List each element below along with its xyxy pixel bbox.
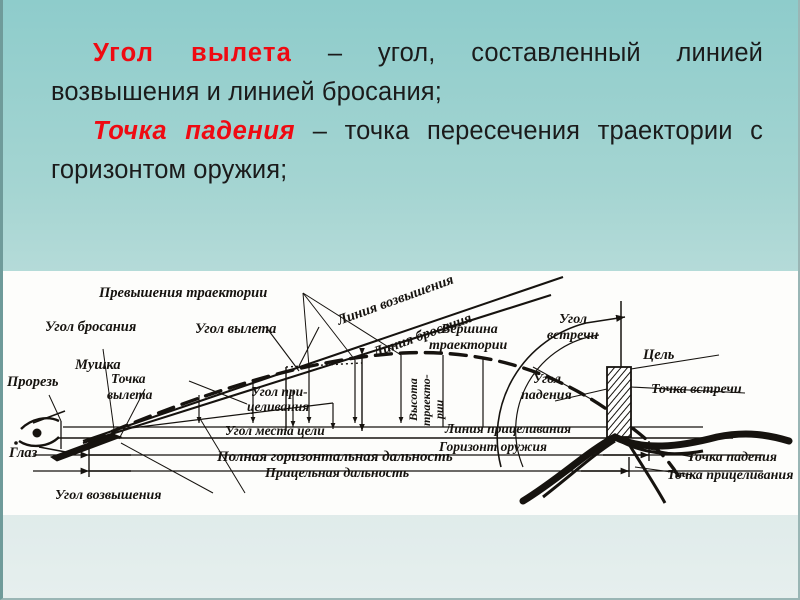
label-ugol-mesta-celi: Угол места цели [225,423,325,438]
label-vysota-traektorii-line2: траекто- [419,374,433,426]
label-ugol-padeniya-line1: Угол [533,372,561,387]
term-ugol-vyleta: Угол вылета [93,39,292,67]
label-glaz: Глаз [8,445,38,461]
label-tochka-pricelivaniya: Точка прицеливания [667,468,793,483]
label-ugol-pricelivaniya-line2: целивания [247,399,309,414]
label-tochka-vyleta-line1: Точка [111,371,146,386]
label-vershina-traektorii-line1: Вершина [440,322,498,337]
label-ugol-pricelivaniya-line1: Угол при- [251,384,308,399]
term-tochka-padeniya: Точка падения [93,117,295,145]
label-ugol-vstrechi-line1: Угол [559,312,587,327]
definition-paragraph-2: Точка падения – точка пересечения траект… [51,112,763,190]
label-vysota-traektorii-line1: Высота [406,378,420,422]
label-ugol-vstrechi-line2: встречи [547,328,599,343]
label-proryez: Прорезь [6,374,59,390]
dash-1 [292,39,328,67]
definition-dash-2: – [313,117,327,145]
label-ugol-vozvysheniya: Угол возвышения [55,488,162,503]
label-ugol-vyleta: Угол вылета [195,321,276,337]
trajectory-diagram-svg: Прорезь Мушка Глаз Точка вылета Угол воз… [3,271,800,515]
label-pricelnaya-dalnost: Прицельная дальность [264,466,409,481]
label-gorizont-oruzhiya: Горизонт оружия [438,439,547,454]
trajectory-diagram: Прорезь Мушка Глаз Точка вылета Угол воз… [3,271,800,515]
slide-canvas: Угол вылета – угол, составленный линией … [0,0,800,600]
label-cel: Цель [642,347,675,363]
label-ugol-padeniya-line2: падения [521,388,572,403]
definition-paragraph-1: Угол вылета – угол, составленный линией … [51,34,763,112]
label-tochka-vyleta-line2: вылета [107,387,153,402]
label-vershina-traektorii-line2: траектории [429,338,508,353]
eye-pupil [33,429,42,438]
label-tochka-vstrechi: Точка встречи [651,382,742,397]
label-vysota-traektorii-line3: рии [432,399,446,420]
definitions-text-block: Угол вылета – угол, составленный линией … [51,34,763,190]
label-liniya-pricelivaniya: Линия прицеливания [444,421,571,436]
label-tochka-padeniya: Точка падения [687,450,777,465]
dash-2 [295,117,313,145]
target-rectangle [607,367,631,437]
label-ugol-brosaniya: Угол бросания [45,319,136,335]
definition-dash-1: – [328,39,342,67]
label-polnaya-gorizontalnaya-dalnost: Полная горизонтальная дальность [216,449,453,465]
label-prevysheniya-traektorii: Превышения траектории [98,285,267,301]
